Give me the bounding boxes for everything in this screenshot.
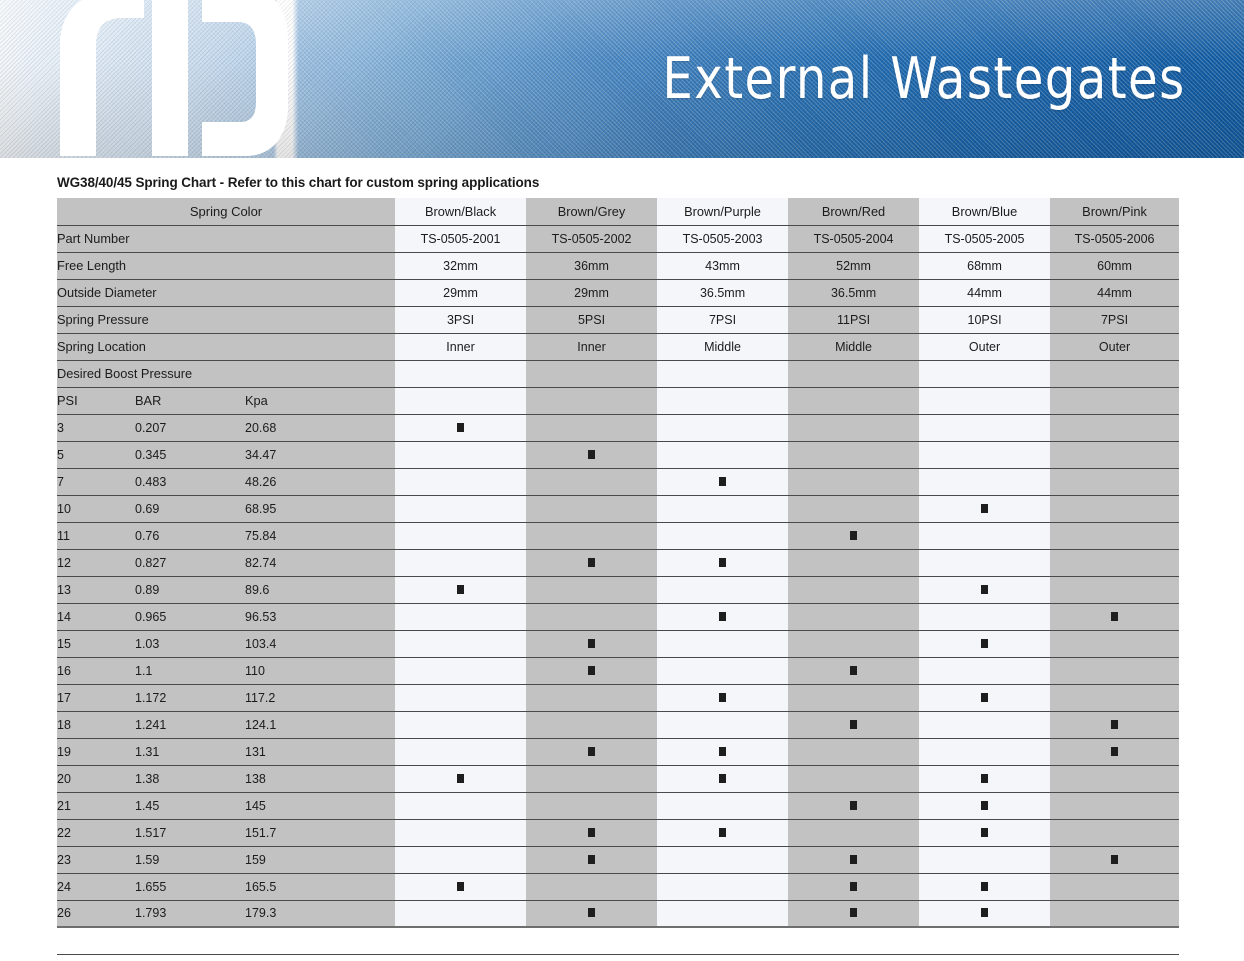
table-row: Free Length32mm36mm43mm52mm68mm60mm bbox=[57, 252, 1179, 279]
spring-match-cell bbox=[1050, 711, 1179, 738]
boost-bar-value: 0.483 bbox=[135, 468, 245, 495]
empty-cell bbox=[395, 711, 526, 738]
empty-cell bbox=[1050, 657, 1179, 684]
empty-cell bbox=[657, 441, 788, 468]
chart-subtitle: WG38/40/45 Spring Chart - Refer to this … bbox=[57, 175, 539, 190]
spring-match-cell bbox=[657, 603, 788, 630]
section-label-row: Desired Boost Pressure bbox=[57, 360, 1179, 387]
table-row: 201.38138 bbox=[57, 765, 1179, 792]
empty-cell bbox=[788, 765, 919, 792]
spring-match-cell bbox=[788, 792, 919, 819]
spec-cell: TS-0505-2005 bbox=[919, 225, 1050, 252]
boost-kpa-value: 165.5 bbox=[245, 873, 395, 900]
filled-square-icon bbox=[1111, 720, 1118, 729]
boost-bar-value: 0.965 bbox=[135, 603, 245, 630]
boost-psi-value: 11 bbox=[57, 522, 135, 549]
empty-cell bbox=[919, 441, 1050, 468]
empty-cell bbox=[1050, 549, 1179, 576]
table-foot bbox=[57, 927, 1179, 954]
table-row: 151.03103.4 bbox=[57, 630, 1179, 657]
boost-psi-value: 10 bbox=[57, 495, 135, 522]
spec-cell: 3PSI bbox=[395, 306, 526, 333]
spec-cell: 52mm bbox=[788, 252, 919, 279]
boost-bar-value: 0.89 bbox=[135, 576, 245, 603]
spring-match-cell bbox=[788, 711, 919, 738]
empty-cell bbox=[919, 549, 1050, 576]
filled-square-icon bbox=[719, 693, 726, 702]
spring-match-cell bbox=[526, 738, 657, 765]
spec-cell: Middle bbox=[657, 333, 788, 360]
table-head: Spring Color Brown/Black Brown/Grey Brow… bbox=[57, 198, 1179, 225]
boost-bar-value: 1.172 bbox=[135, 684, 245, 711]
boost-kpa-value: 124.1 bbox=[245, 711, 395, 738]
boost-kpa-value: 110 bbox=[245, 657, 395, 684]
empty-cell bbox=[1050, 468, 1179, 495]
empty-cell bbox=[526, 711, 657, 738]
unit-spacer-cell bbox=[788, 387, 919, 414]
desired-boost-pressure-label: Desired Boost Pressure bbox=[57, 360, 395, 387]
spec-row-label: Outside Diameter bbox=[57, 279, 395, 306]
boost-psi-value: 17 bbox=[57, 684, 135, 711]
filled-square-icon bbox=[981, 639, 988, 648]
unit-header-kpa: Kpa bbox=[245, 387, 395, 414]
empty-cell bbox=[395, 792, 526, 819]
unit-header-psi: PSI bbox=[57, 387, 135, 414]
boost-psi-value: 20 bbox=[57, 765, 135, 792]
unit-spacer-cell bbox=[1050, 387, 1179, 414]
spec-row-label: Spring Location bbox=[57, 333, 395, 360]
spring-match-cell bbox=[395, 576, 526, 603]
column-header-2: Brown/Purple bbox=[657, 198, 788, 225]
table-row: 30.20720.68 bbox=[57, 414, 1179, 441]
empty-cell bbox=[526, 414, 657, 441]
filled-square-icon bbox=[1111, 747, 1118, 756]
table-row: 241.655165.5 bbox=[57, 873, 1179, 900]
empty-cell bbox=[657, 630, 788, 657]
filled-square-icon bbox=[981, 908, 988, 917]
spec-cell: 44mm bbox=[919, 279, 1050, 306]
empty-cell bbox=[919, 414, 1050, 441]
spec-cell: Outer bbox=[919, 333, 1050, 360]
boost-bar-value: 1.31 bbox=[135, 738, 245, 765]
empty-cell bbox=[1050, 819, 1179, 846]
empty-cell bbox=[788, 414, 919, 441]
boost-psi-value: 3 bbox=[57, 414, 135, 441]
empty-cell bbox=[788, 495, 919, 522]
empty-cell bbox=[1050, 792, 1179, 819]
spec-cell: 68mm bbox=[919, 252, 1050, 279]
empty-cell bbox=[395, 846, 526, 873]
boost-bar-value: 0.827 bbox=[135, 549, 245, 576]
boost-kpa-value: 179.3 bbox=[245, 900, 395, 927]
empty-cell bbox=[1050, 495, 1179, 522]
filled-square-icon bbox=[719, 477, 726, 486]
spring-match-cell bbox=[395, 765, 526, 792]
column-header-3: Brown/Red bbox=[788, 198, 919, 225]
filled-square-icon bbox=[588, 666, 595, 675]
section-spacer-cell bbox=[526, 360, 657, 387]
empty-cell bbox=[657, 792, 788, 819]
filled-square-icon bbox=[981, 882, 988, 891]
spring-match-cell bbox=[919, 765, 1050, 792]
empty-cell bbox=[395, 549, 526, 576]
table-row: 110.7675.84 bbox=[57, 522, 1179, 549]
spring-match-cell bbox=[1050, 738, 1179, 765]
table-row: 181.241124.1 bbox=[57, 711, 1179, 738]
empty-cell bbox=[526, 873, 657, 900]
section-spacer-cell bbox=[788, 360, 919, 387]
filled-square-icon bbox=[588, 747, 595, 756]
spec-cell: 36.5mm bbox=[788, 279, 919, 306]
filled-square-icon bbox=[719, 828, 726, 837]
empty-cell bbox=[395, 468, 526, 495]
section-spacer-cell bbox=[657, 360, 788, 387]
empty-cell bbox=[657, 846, 788, 873]
empty-cell bbox=[526, 576, 657, 603]
spring-match-cell bbox=[657, 549, 788, 576]
spec-cell: Inner bbox=[395, 333, 526, 360]
table-bottom-rule bbox=[57, 927, 1179, 954]
spring-match-cell bbox=[526, 900, 657, 927]
empty-cell bbox=[526, 522, 657, 549]
filled-square-icon bbox=[850, 882, 857, 891]
spring-match-cell bbox=[657, 765, 788, 792]
boost-rows-body: 30.20720.6850.34534.4770.48348.26100.696… bbox=[57, 414, 1179, 927]
empty-cell bbox=[788, 819, 919, 846]
filled-square-icon bbox=[981, 585, 988, 594]
filled-square-icon bbox=[719, 612, 726, 621]
empty-cell bbox=[919, 738, 1050, 765]
empty-cell bbox=[1050, 684, 1179, 711]
unit-spacer-cell bbox=[395, 387, 526, 414]
spring-match-cell bbox=[1050, 846, 1179, 873]
column-header-1: Brown/Grey bbox=[526, 198, 657, 225]
boost-bar-value: 0.207 bbox=[135, 414, 245, 441]
table-row: 100.6968.95 bbox=[57, 495, 1179, 522]
spring-match-cell bbox=[919, 684, 1050, 711]
empty-cell bbox=[788, 549, 919, 576]
filled-square-icon bbox=[981, 504, 988, 513]
spec-row-label: Spring Pressure bbox=[57, 306, 395, 333]
spring-match-cell bbox=[526, 630, 657, 657]
empty-cell bbox=[395, 900, 526, 927]
spring-color-header: Spring Color bbox=[57, 198, 395, 225]
empty-cell bbox=[788, 603, 919, 630]
spec-cell: 10PSI bbox=[919, 306, 1050, 333]
boost-psi-value: 19 bbox=[57, 738, 135, 765]
spec-row-label: Free Length bbox=[57, 252, 395, 279]
spring-match-cell bbox=[657, 738, 788, 765]
boost-bar-value: 1.38 bbox=[135, 765, 245, 792]
empty-cell bbox=[788, 468, 919, 495]
spec-cell: 5PSI bbox=[526, 306, 657, 333]
table-row: 70.48348.26 bbox=[57, 468, 1179, 495]
empty-cell bbox=[657, 711, 788, 738]
table-row: 261.793179.3 bbox=[57, 900, 1179, 927]
filled-square-icon bbox=[588, 908, 595, 917]
empty-cell bbox=[395, 738, 526, 765]
unit-header-row: PSIBARKpa bbox=[57, 387, 1179, 414]
boost-kpa-value: 103.4 bbox=[245, 630, 395, 657]
empty-cell bbox=[788, 441, 919, 468]
boost-psi-value: 23 bbox=[57, 846, 135, 873]
spec-cell: 11PSI bbox=[788, 306, 919, 333]
spec-cell: Inner bbox=[526, 333, 657, 360]
empty-cell bbox=[526, 684, 657, 711]
empty-cell bbox=[526, 603, 657, 630]
filled-square-icon bbox=[850, 801, 857, 810]
spring-match-cell bbox=[788, 657, 919, 684]
spring-match-cell bbox=[526, 819, 657, 846]
boost-kpa-value: 89.6 bbox=[245, 576, 395, 603]
empty-cell bbox=[526, 792, 657, 819]
spring-chart-container: Spring Color Brown/Black Brown/Grey Brow… bbox=[57, 198, 1179, 955]
boost-kpa-value: 20.68 bbox=[245, 414, 395, 441]
spring-match-cell bbox=[526, 549, 657, 576]
filled-square-icon bbox=[457, 774, 464, 783]
empty-cell bbox=[1050, 765, 1179, 792]
boost-bar-value: 1.793 bbox=[135, 900, 245, 927]
filled-square-icon bbox=[850, 908, 857, 917]
empty-cell bbox=[1050, 873, 1179, 900]
table-row: 130.8989.6 bbox=[57, 576, 1179, 603]
column-header-4: Brown/Blue bbox=[919, 198, 1050, 225]
empty-cell bbox=[395, 657, 526, 684]
spring-match-cell bbox=[1050, 603, 1179, 630]
empty-cell bbox=[526, 495, 657, 522]
spec-rows-body: Part NumberTS-0505-2001TS-0505-2002TS-05… bbox=[57, 225, 1179, 414]
filled-square-icon bbox=[850, 855, 857, 864]
spec-cell: 36.5mm bbox=[657, 279, 788, 306]
boost-bar-value: 1.241 bbox=[135, 711, 245, 738]
spec-cell: 36mm bbox=[526, 252, 657, 279]
spec-cell: TS-0505-2003 bbox=[657, 225, 788, 252]
spring-match-cell bbox=[919, 630, 1050, 657]
boost-bar-value: 1.655 bbox=[135, 873, 245, 900]
empty-cell bbox=[1050, 576, 1179, 603]
empty-cell bbox=[919, 846, 1050, 873]
empty-cell bbox=[919, 711, 1050, 738]
table-row: Spring LocationInnerInnerMiddleMiddleOut… bbox=[57, 333, 1179, 360]
spec-cell: 7PSI bbox=[1050, 306, 1179, 333]
empty-cell bbox=[657, 495, 788, 522]
empty-cell bbox=[395, 684, 526, 711]
empty-cell bbox=[788, 684, 919, 711]
spec-cell: Middle bbox=[788, 333, 919, 360]
boost-psi-value: 26 bbox=[57, 900, 135, 927]
boost-psi-value: 12 bbox=[57, 549, 135, 576]
boost-psi-value: 13 bbox=[57, 576, 135, 603]
filled-square-icon bbox=[588, 450, 595, 459]
boost-psi-value: 7 bbox=[57, 468, 135, 495]
spring-match-cell bbox=[526, 441, 657, 468]
spec-cell: 29mm bbox=[526, 279, 657, 306]
boost-psi-value: 14 bbox=[57, 603, 135, 630]
boost-kpa-value: 138 bbox=[245, 765, 395, 792]
spring-match-cell bbox=[919, 900, 1050, 927]
table-row: 161.1110 bbox=[57, 657, 1179, 684]
section-spacer-cell bbox=[395, 360, 526, 387]
empty-cell bbox=[1050, 630, 1179, 657]
table-row: Spring Pressure3PSI5PSI7PSI11PSI10PSI7PS… bbox=[57, 306, 1179, 333]
spring-match-cell bbox=[657, 819, 788, 846]
boost-bar-value: 0.76 bbox=[135, 522, 245, 549]
filled-square-icon bbox=[719, 558, 726, 567]
boost-kpa-value: 34.47 bbox=[245, 441, 395, 468]
spec-cell: TS-0505-2004 bbox=[788, 225, 919, 252]
header-row: Spring Color Brown/Black Brown/Grey Brow… bbox=[57, 198, 1179, 225]
filled-square-icon bbox=[981, 774, 988, 783]
table-row: 211.45145 bbox=[57, 792, 1179, 819]
table-row: 120.82782.74 bbox=[57, 549, 1179, 576]
spring-match-cell bbox=[788, 522, 919, 549]
boost-psi-value: 5 bbox=[57, 441, 135, 468]
boost-psi-value: 16 bbox=[57, 657, 135, 684]
filled-square-icon bbox=[719, 774, 726, 783]
table-row: Outside Diameter29mm29mm36.5mm36.5mm44mm… bbox=[57, 279, 1179, 306]
boost-kpa-value: 96.53 bbox=[245, 603, 395, 630]
empty-cell bbox=[657, 576, 788, 603]
page-banner: External Wastegates bbox=[0, 0, 1244, 158]
empty-cell bbox=[526, 468, 657, 495]
unit-spacer-cell bbox=[526, 387, 657, 414]
empty-cell bbox=[657, 657, 788, 684]
filled-square-icon bbox=[1111, 855, 1118, 864]
boost-kpa-value: 131 bbox=[245, 738, 395, 765]
boost-kpa-value: 82.74 bbox=[245, 549, 395, 576]
table-row: Part NumberTS-0505-2001TS-0505-2002TS-05… bbox=[57, 225, 1179, 252]
filled-square-icon bbox=[588, 855, 595, 864]
empty-cell bbox=[395, 819, 526, 846]
empty-cell bbox=[1050, 414, 1179, 441]
spec-cell: 43mm bbox=[657, 252, 788, 279]
empty-cell bbox=[788, 630, 919, 657]
unit-spacer-cell bbox=[657, 387, 788, 414]
spring-match-cell bbox=[395, 873, 526, 900]
spec-cell: TS-0505-2002 bbox=[526, 225, 657, 252]
filled-square-icon bbox=[850, 720, 857, 729]
filled-square-icon bbox=[981, 828, 988, 837]
column-header-0: Brown/Black bbox=[395, 198, 526, 225]
boost-bar-value: 1.59 bbox=[135, 846, 245, 873]
filled-square-icon bbox=[588, 558, 595, 567]
empty-cell bbox=[395, 495, 526, 522]
boost-bar-value: 1.45 bbox=[135, 792, 245, 819]
spring-match-cell bbox=[788, 873, 919, 900]
empty-cell bbox=[526, 765, 657, 792]
empty-cell bbox=[788, 738, 919, 765]
boost-kpa-value: 151.7 bbox=[245, 819, 395, 846]
empty-cell bbox=[395, 441, 526, 468]
empty-cell bbox=[395, 603, 526, 630]
boost-psi-value: 22 bbox=[57, 819, 135, 846]
spring-match-cell bbox=[526, 657, 657, 684]
table-row: 171.172117.2 bbox=[57, 684, 1179, 711]
filled-square-icon bbox=[850, 531, 857, 540]
spring-match-cell bbox=[919, 495, 1050, 522]
boost-kpa-value: 48.26 bbox=[245, 468, 395, 495]
table-row: 221.517151.7 bbox=[57, 819, 1179, 846]
section-spacer-cell bbox=[919, 360, 1050, 387]
spec-cell: Outer bbox=[1050, 333, 1179, 360]
boost-kpa-value: 145 bbox=[245, 792, 395, 819]
filled-square-icon bbox=[981, 801, 988, 810]
spec-cell: 60mm bbox=[1050, 252, 1179, 279]
empty-cell bbox=[919, 603, 1050, 630]
table-row: 191.31131 bbox=[57, 738, 1179, 765]
section-spacer-cell bbox=[1050, 360, 1179, 387]
boost-bar-value: 0.345 bbox=[135, 441, 245, 468]
empty-cell bbox=[1050, 522, 1179, 549]
empty-cell bbox=[395, 522, 526, 549]
filled-square-icon bbox=[457, 423, 464, 432]
filled-square-icon bbox=[457, 585, 464, 594]
table-row: 50.34534.47 bbox=[57, 441, 1179, 468]
boost-bar-value: 1.03 bbox=[135, 630, 245, 657]
filled-square-icon bbox=[850, 666, 857, 675]
empty-cell bbox=[657, 873, 788, 900]
spring-match-cell bbox=[657, 468, 788, 495]
empty-cell bbox=[1050, 441, 1179, 468]
atp-turbo-logo bbox=[52, 0, 288, 156]
boost-bar-value: 1.517 bbox=[135, 819, 245, 846]
unit-spacer-cell bbox=[919, 387, 1050, 414]
spring-match-cell bbox=[526, 846, 657, 873]
empty-cell bbox=[1050, 900, 1179, 927]
spring-chart-table: Spring Color Brown/Black Brown/Grey Brow… bbox=[57, 198, 1179, 955]
empty-cell bbox=[919, 522, 1050, 549]
filled-square-icon bbox=[1111, 612, 1118, 621]
table-row: 140.96596.53 bbox=[57, 603, 1179, 630]
spring-match-cell bbox=[788, 846, 919, 873]
spec-row-label: Part Number bbox=[57, 225, 395, 252]
spring-match-cell bbox=[657, 684, 788, 711]
spec-cell: 7PSI bbox=[657, 306, 788, 333]
spec-cell: 32mm bbox=[395, 252, 526, 279]
column-header-5: Brown/Pink bbox=[1050, 198, 1179, 225]
table-row: 231.59159 bbox=[57, 846, 1179, 873]
spring-match-cell bbox=[919, 819, 1050, 846]
spec-cell: 29mm bbox=[395, 279, 526, 306]
spec-cell: TS-0505-2006 bbox=[1050, 225, 1179, 252]
boost-kpa-value: 117.2 bbox=[245, 684, 395, 711]
unit-header-bar: BAR bbox=[135, 387, 245, 414]
boost-kpa-value: 159 bbox=[245, 846, 395, 873]
spring-match-cell bbox=[919, 873, 1050, 900]
spec-cell: TS-0505-2001 bbox=[395, 225, 526, 252]
spring-match-cell bbox=[788, 900, 919, 927]
boost-psi-value: 21 bbox=[57, 792, 135, 819]
filled-square-icon bbox=[588, 828, 595, 837]
boost-kpa-value: 75.84 bbox=[245, 522, 395, 549]
empty-cell bbox=[919, 657, 1050, 684]
empty-cell bbox=[395, 630, 526, 657]
boost-kpa-value: 68.95 bbox=[245, 495, 395, 522]
spring-match-cell bbox=[919, 792, 1050, 819]
spring-match-cell bbox=[919, 576, 1050, 603]
filled-square-icon bbox=[457, 882, 464, 891]
spec-cell: 44mm bbox=[1050, 279, 1179, 306]
empty-cell bbox=[788, 576, 919, 603]
filled-square-icon bbox=[719, 747, 726, 756]
boost-bar-value: 0.69 bbox=[135, 495, 245, 522]
filled-square-icon bbox=[981, 693, 988, 702]
boost-bar-value: 1.1 bbox=[135, 657, 245, 684]
empty-cell bbox=[657, 414, 788, 441]
boost-psi-value: 24 bbox=[57, 873, 135, 900]
spring-match-cell bbox=[395, 414, 526, 441]
empty-cell bbox=[657, 900, 788, 927]
